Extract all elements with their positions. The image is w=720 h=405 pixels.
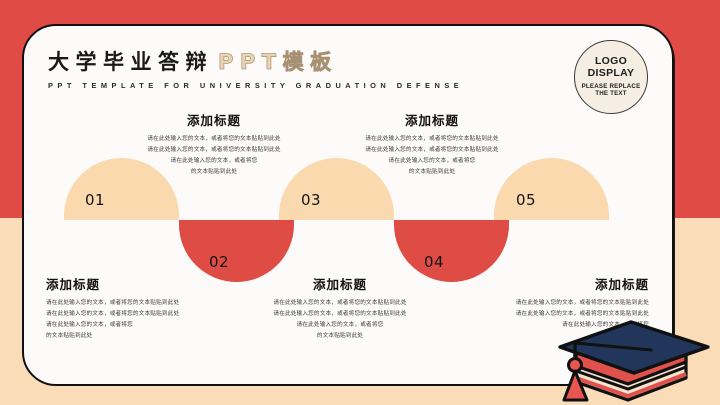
body-line: 请在此处输入您的文本，或者将您的文本贴贴到此处 — [46, 298, 242, 309]
text-block-bottom-2-title: 添加标题 — [242, 274, 438, 293]
body-line: 请在此处输入您的文本，或者将您的文本贴贴到此处 — [242, 298, 438, 309]
body-line: 请在此处输入您的文本，或者将您的文本贴贴到此处 — [116, 134, 312, 145]
body-line: 请在此处输入您的文本，或者将您的文本贴贴到此处 — [334, 145, 530, 156]
logo-line-2: DISPLAY — [588, 68, 635, 80]
text-block-top-1-title: 添加标题 — [116, 110, 312, 129]
text-block-top-1: 添加标题 请在此处输入您的文本，或者将您的文本贴贴到此处 请在此处输入您的文本，… — [116, 110, 312, 178]
graduation-cap-icon — [556, 316, 720, 405]
body-line: 请在此处输入您的文本，或者将您 — [46, 320, 242, 331]
page-title-cn: 大学毕业答辩 — [48, 46, 213, 76]
logo-line-4: THE TEXT — [595, 91, 627, 98]
wave-step-04-shape — [394, 220, 509, 282]
text-block-bottom-3-title: 添加标题 — [434, 274, 649, 293]
page-title: 大学毕业答辩 PPT 模板 — [48, 46, 463, 76]
wave-step-02-shape — [179, 220, 294, 282]
wave-step-03-number: 03 — [301, 191, 321, 209]
body-line: 的文本贴贴到此处 — [334, 167, 530, 178]
body-line: 请在此处输入您的文本，或者将您 — [116, 156, 312, 167]
page-title-cn-suffix: 模板 — [283, 46, 338, 76]
body-line: 的文本贴贴到此处 — [242, 331, 438, 342]
text-block-bottom-1: 添加标题 请在此处输入您的文本，或者将您的文本贴贴到此处 请在此处输入您的文本，… — [46, 274, 242, 342]
body-line: 请在此处输入您的文本，或者将您 — [242, 320, 438, 331]
wave-step-01-number: 01 — [85, 191, 105, 209]
wave-step-05-number: 05 — [516, 191, 536, 209]
header-title-group: 大学毕业答辩 PPT 模板 PPT TEMPLATE FOR UNIVERSIT… — [48, 46, 463, 90]
body-line: 的文本贴贴到此处 — [116, 167, 312, 178]
body-line: 请在此处输入您的文本，或者将您的文本贴贴到此处 — [116, 145, 312, 156]
body-line: 的文本贴贴到此处 — [46, 331, 242, 342]
logo-badge[interactable]: LOGO DISPLAY PLEASE REPLACE THE TEXT — [574, 40, 648, 114]
text-block-bottom-1-body: 请在此处输入您的文本，或者将您的文本贴贴到此处 请在此处输入您的文本，或者将您的… — [46, 298, 242, 342]
page-title-en: PPT — [218, 50, 283, 74]
text-block-top-2: 添加标题 请在此处输入您的文本，或者将您的文本贴贴到此处 请在此处输入您的文本，… — [334, 110, 530, 178]
text-block-top-2-title: 添加标题 — [334, 110, 530, 129]
text-block-bottom-1-title: 添加标题 — [46, 274, 242, 293]
body-line: 请在此处输入您的文本，或者将您的文本贴贴到此处 — [434, 298, 649, 309]
page-subtitle: PPT TEMPLATE FOR UNIVERSITY GRADUATION D… — [48, 81, 463, 90]
wave-step-02-number: 02 — [209, 253, 229, 271]
text-block-top-1-body: 请在此处输入您的文本，或者将您的文本贴贴到此处 请在此处输入您的文本，或者将您的… — [116, 134, 312, 178]
body-line: 请在此处输入您的文本，或者将您的文本贴贴到此处 — [334, 134, 530, 145]
text-block-bottom-2: 添加标题 请在此处输入您的文本，或者将您的文本贴贴到此处 请在此处输入您的文本，… — [242, 274, 438, 342]
slide-canvas: 大学毕业答辩 PPT 模板 PPT TEMPLATE FOR UNIVERSIT… — [0, 0, 720, 405]
body-line: 请在此处输入您的文本，或者将您的文本贴贴到此处 — [242, 309, 438, 320]
text-block-bottom-2-body: 请在此处输入您的文本，或者将您的文本贴贴到此处 请在此处输入您的文本，或者将您的… — [242, 298, 438, 342]
wave-step-04-number: 04 — [424, 253, 444, 271]
body-line: 请在此处输入您的文本，或者将您 — [334, 156, 530, 167]
body-line: 请在此处输入您的文本，或者将您的文本贴贴到此处 — [46, 309, 242, 320]
text-block-top-2-body: 请在此处输入您的文本，或者将您的文本贴贴到此处 请在此处输入您的文本，或者将您的… — [334, 134, 530, 178]
